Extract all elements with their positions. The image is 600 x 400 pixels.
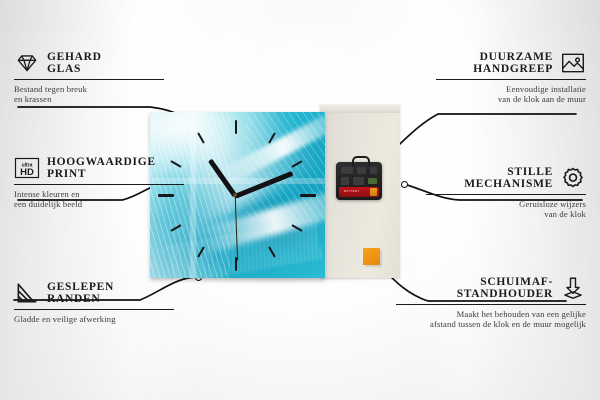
wall-clock-product: BATTERY — [150, 112, 400, 278]
callout-hoogwaardige-print: ultra HD HOOGWAARDIGE PRINT Intense kleu… — [14, 155, 184, 209]
callout-description-line1: Bestand tegen breuk — [14, 84, 164, 94]
callout-description-line2: en krassen — [14, 94, 164, 104]
clock-battery: BATTERY — [339, 187, 379, 197]
foam-spacer-pad — [363, 248, 380, 265]
down-arrow-pad-icon — [560, 275, 586, 301]
callout-title: HOOGWAARDIGE PRINT — [47, 156, 156, 181]
mechanism-detail-c — [370, 167, 377, 174]
diagonal-lines-icon — [14, 280, 40, 306]
clock-hanging-hook-icon — [352, 156, 370, 166]
callout-divider — [14, 184, 184, 185]
svg-text:HD: HD — [20, 167, 34, 178]
callout-geslepen-randen: GESLEPEN RANDEN Gladde en veilige afwerk… — [14, 280, 174, 324]
callout-divider — [396, 304, 586, 305]
callout-header: GEHARD GLAS — [14, 50, 164, 76]
clock-back-panel-top-edge — [320, 104, 400, 113]
hour-tick-3 — [300, 194, 316, 197]
callout-description-line2: van de klok aan de muur — [436, 94, 586, 104]
callout-title: STILLE MECHANISME — [464, 166, 553, 191]
connector-dot-stille-mechanisme — [401, 181, 408, 188]
mechanism-detail-d — [341, 177, 349, 185]
callout-description-line2: van de klok — [426, 209, 586, 219]
callout-divider — [436, 79, 586, 80]
callout-description-line1: Maakt het behouden van een gelijke — [396, 309, 586, 319]
callout-description-line1: Intense kleuren en — [14, 189, 184, 199]
product-floor-shadow — [138, 276, 414, 292]
callout-duurzame-handgreep: DUURZAME HANDGREEP Eenvoudige installati… — [436, 50, 586, 104]
mechanism-detail-f — [368, 178, 377, 184]
callout-description-line1: Gladde en veilige afwerking — [14, 314, 174, 324]
gear-icon — [560, 165, 586, 191]
callout-header: SCHUIMAF- STANDHOUDER — [396, 275, 586, 301]
mechanism-detail-b — [357, 167, 366, 174]
callout-divider — [14, 79, 164, 80]
mechanism-detail-e — [353, 177, 364, 185]
callout-description-line1: Eenvoudige installatie — [436, 84, 586, 94]
diamond-icon — [14, 50, 40, 76]
callout-description-line2: een duidelijk beeld — [14, 199, 184, 209]
callout-title: SCHUIMAF- STANDHOUDER — [457, 276, 553, 301]
ultra-hd-icon: ultra HD — [14, 155, 40, 181]
clock-center-cap — [233, 193, 237, 197]
battery-positive-terminal — [370, 188, 377, 196]
callout-description-line2: afstand tussen de klok en de muur mogeli… — [396, 319, 586, 329]
callout-description-line1: Geruisloze wijzers — [426, 199, 586, 209]
callout-schuimaf-standhouder: SCHUIMAF- STANDHOUDER Maakt het behouden… — [396, 275, 586, 329]
clock-mechanism: BATTERY — [336, 162, 382, 200]
callout-header: DUURZAME HANDGREEP — [436, 50, 586, 76]
callout-title: GEHARD GLAS — [47, 51, 102, 76]
hour-tick-12 — [235, 120, 237, 134]
callout-gehard-glas: GEHARD GLAS Bestand tegen breuk en krass… — [14, 50, 164, 104]
callout-divider — [14, 309, 174, 310]
picture-frame-icon — [560, 50, 586, 76]
callout-header: STILLE MECHANISME — [426, 165, 586, 191]
callout-stille-mechanisme: STILLE MECHANISME Geruisloze wijzers van… — [426, 165, 586, 219]
product-infographic: BATTERY GEHARD GLAS Bestand tegen breuk … — [0, 0, 600, 400]
callout-title: GESLEPEN RANDEN — [47, 281, 114, 306]
callout-divider — [426, 194, 586, 195]
callout-header: GESLEPEN RANDEN — [14, 280, 174, 306]
battery-label: BATTERY — [344, 189, 360, 193]
callout-header: ultra HD HOOGWAARDIGE PRINT — [14, 155, 184, 181]
callout-title: DUURZAME HANDGREEP — [473, 51, 553, 76]
mechanism-detail-a — [341, 167, 353, 174]
